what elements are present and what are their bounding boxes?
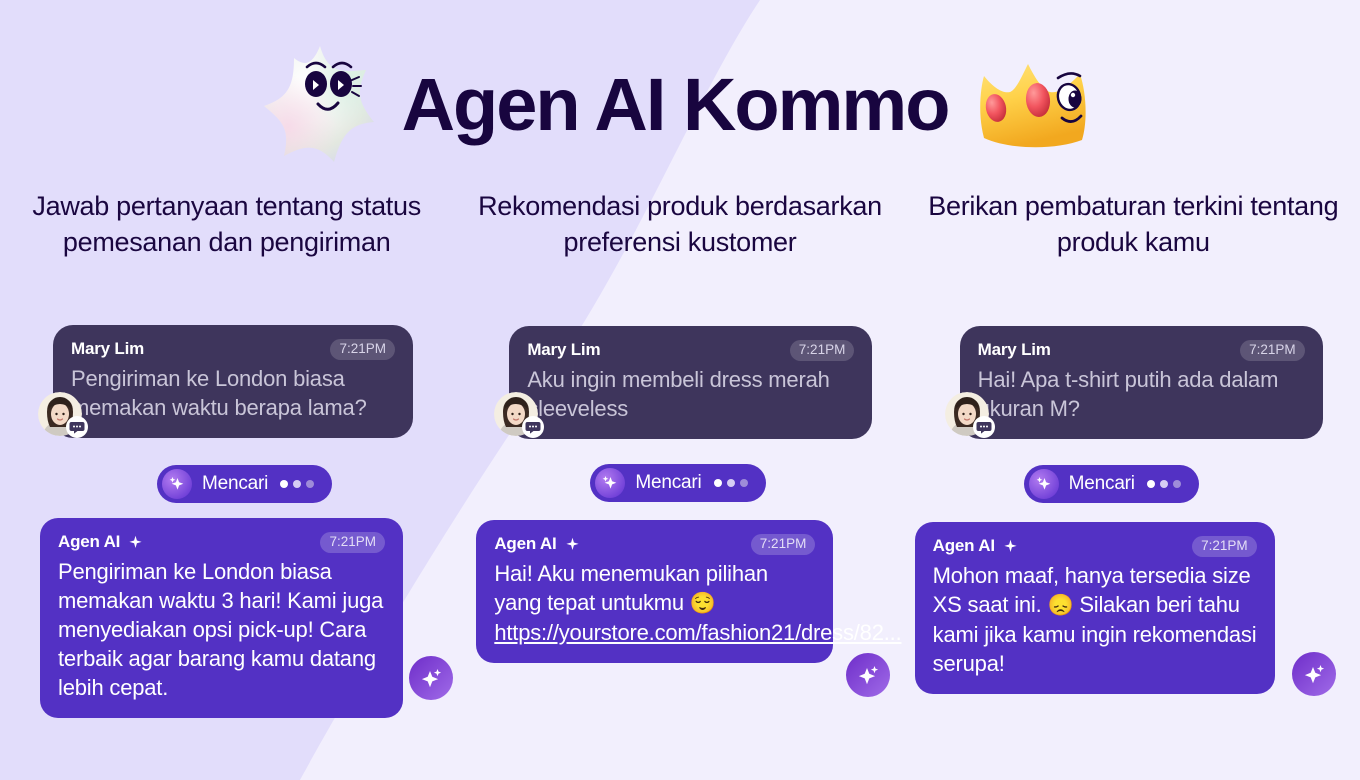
user-message-bubble: Mary Lim 7:21PM Pengiriman ke London bia…: [53, 325, 413, 438]
sender-name: Mary Lim: [71, 339, 144, 359]
message-body: Hai! Aku menemukan pilihan yang tepat un…: [494, 561, 768, 615]
message-text: Pengiriman ke London biasa memakan waktu…: [71, 364, 395, 422]
message-text: Hai! Aku menemukan pilihan yang tepat un…: [494, 559, 815, 647]
ai-sparkle-badge-icon[interactable]: [1292, 652, 1336, 696]
chat-bubble-badge-icon: [973, 416, 995, 438]
sender-name: Agen AI: [58, 532, 143, 552]
loading-dots: [1147, 480, 1181, 488]
crown-face-icon: [970, 50, 1100, 160]
ai-sparkle-badge-icon[interactable]: [846, 653, 890, 697]
avatar: [38, 392, 82, 436]
message-timestamp: 7:21PM: [320, 532, 385, 553]
sender-name: Mary Lim: [527, 340, 600, 360]
user-message-bubble: Mary Lim 7:21PM Aku ingin membeli dress …: [509, 326, 872, 439]
feature-column-3: Berikan pembaturan terkini tentang produ…: [907, 180, 1360, 780]
sparkle-icon: [595, 468, 625, 498]
feature-columns: Jawab pertanyaan tentang status pemesana…: [0, 180, 1360, 780]
avatar: [494, 392, 538, 436]
ai-message-bubble: Agen AI 7:21PM Pengiriman ke London bias…: [40, 518, 403, 718]
dot-2: [293, 480, 301, 488]
message-timestamp: 7:21PM: [1240, 340, 1305, 361]
bubble-header: Agen AI 7:21PM: [933, 536, 1257, 557]
sparkle-icon: [1029, 469, 1059, 499]
sender-name: Agen AI: [933, 536, 1018, 556]
bubble-header: Mary Lim 7:21PM: [978, 340, 1305, 361]
feature-column-2: Rekomendasi produk berdasarkan preferens…: [453, 180, 906, 780]
searching-status-pill[interactable]: Mencari: [1024, 465, 1199, 503]
message-timestamp: 7:21PM: [1192, 536, 1257, 557]
searching-status-pill[interactable]: Mencari: [157, 465, 332, 503]
bubble-header: Agen AI 7:21PM: [58, 532, 385, 553]
loading-dots: [280, 480, 314, 488]
column-heading-2: Rekomendasi produk berdasarkan preferens…: [453, 180, 906, 260]
sender-name: Mary Lim: [978, 340, 1051, 360]
bubble-header: Mary Lim 7:21PM: [527, 340, 854, 361]
column-heading-3: Berikan pembaturan terkini tentang produ…: [907, 180, 1360, 260]
bubble-header: Mary Lim 7:21PM: [71, 339, 395, 360]
dot-1: [1147, 480, 1155, 488]
dot-2: [727, 479, 735, 487]
ai-message-bubble: Agen AI 7:21PM Hai! Aku menemukan piliha…: [476, 520, 833, 663]
sender-label: Agen AI: [58, 532, 120, 552]
spark-icon: [1003, 539, 1018, 554]
sparkle-icon: [162, 469, 192, 499]
dot-3: [740, 479, 748, 487]
column-heading-1: Jawab pertanyaan tentang status pemesana…: [0, 180, 453, 260]
message-text: Aku ingin membeli dress merah sleeveless: [527, 365, 854, 423]
sender-label: Agen AI: [933, 536, 995, 556]
disappointed-face-emoji: 😞: [1047, 594, 1073, 617]
avatar: [945, 392, 989, 436]
loading-dots: [714, 479, 748, 487]
star-face-icon: [260, 40, 380, 170]
spark-icon: [128, 535, 143, 550]
pill-label: Mencari: [1069, 473, 1135, 495]
dot-3: [1173, 480, 1181, 488]
message-text: Pengiriman ke London biasa memakan waktu…: [58, 557, 385, 702]
relieved-face-emoji: 😌: [690, 592, 716, 615]
ai-message-bubble: Agen AI 7:21PM Mohon maaf, hanya tersedi…: [915, 522, 1275, 694]
page-header: Agen AI Kommo: [0, 30, 1360, 180]
message-text: Mohon maaf, hanya tersedia size XS saat …: [933, 561, 1257, 678]
chat-bubble-badge-icon: [522, 416, 544, 438]
ai-sparkle-badge-icon[interactable]: [409, 656, 453, 700]
message-timestamp: 7:21PM: [790, 340, 855, 361]
spark-icon: [565, 537, 580, 552]
dot-1: [714, 479, 722, 487]
pill-label: Mencari: [202, 473, 268, 495]
message-timestamp: 7:21PM: [751, 534, 816, 555]
dot-2: [1160, 480, 1168, 488]
page-title: Agen AI Kommo: [402, 68, 949, 142]
dot-1: [280, 480, 288, 488]
searching-status-pill[interactable]: Mencari: [590, 464, 765, 502]
user-message-bubble: Mary Lim 7:21PM Hai! Apa t-shirt putih a…: [960, 326, 1323, 439]
bubble-header: Agen AI 7:21PM: [494, 534, 815, 555]
feature-column-1: Jawab pertanyaan tentang status pemesana…: [0, 180, 453, 780]
pill-label: Mencari: [635, 472, 701, 494]
sender-name: Agen AI: [494, 534, 579, 554]
message-timestamp: 7:21PM: [330, 339, 395, 360]
product-link[interactable]: https://yourstore.com/fashion21/dress/82…: [494, 620, 901, 645]
dot-3: [306, 480, 314, 488]
message-text: Hai! Apa t-shirt putih ada dalam ukuran …: [978, 365, 1305, 423]
chat-bubble-badge-icon: [66, 416, 88, 438]
sender-label: Agen AI: [494, 534, 556, 554]
